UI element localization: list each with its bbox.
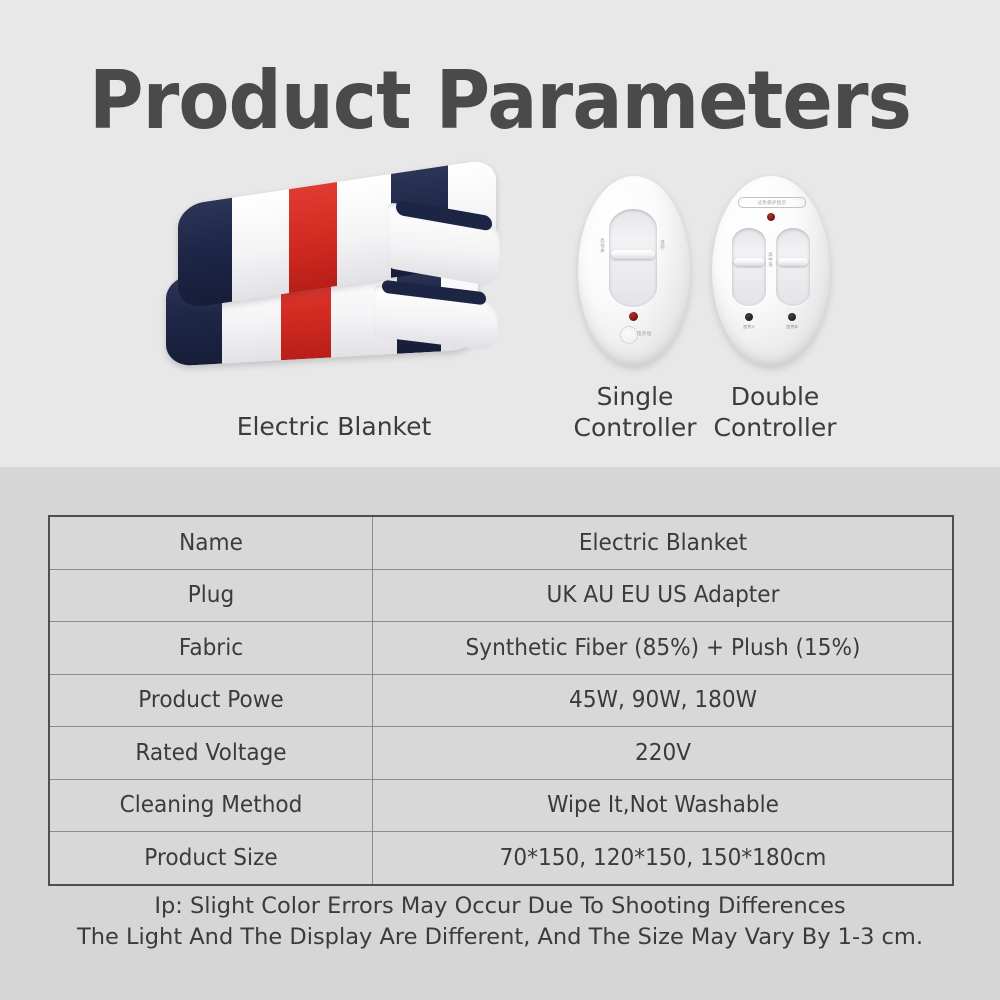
stripe-navy-left (178, 198, 232, 310)
table-row: Name Electric Blanket (49, 516, 953, 569)
blanket-stack (160, 160, 500, 395)
brand-text: 电热毯 (637, 331, 652, 337)
heat-a-label: 加热A (734, 324, 764, 329)
heat-b-led-icon (788, 313, 796, 321)
spec-label: Name (59, 516, 363, 569)
table-row: Rated Voltage 220V (49, 727, 953, 780)
overheat-led-icon (767, 213, 775, 221)
caption-electric-blanket: Electric Blanket (174, 411, 494, 442)
spec-label: Product Powe (59, 674, 363, 727)
slider-knob (611, 250, 655, 259)
stripe-red (289, 182, 337, 293)
spec-label: Cleaning Method (59, 779, 363, 832)
slider-track-b (776, 228, 810, 306)
heat-a-led-icon (745, 313, 753, 321)
caption-double-controller: Double Controller (700, 381, 850, 443)
spec-label: Rated Voltage (59, 727, 363, 780)
double-controller-image: 过热保护指示 高中低 加热A 加热B (712, 176, 830, 366)
spec-table: Name Electric Blanket Plug UK AU EU US A… (48, 515, 954, 886)
table-row: Product Powe 45W, 90W, 180W (49, 674, 953, 727)
stripe-white-left (232, 189, 289, 302)
heat-b-label: 加热B (777, 324, 807, 329)
spec-value: Electric Blanket (390, 516, 936, 569)
blanket-image (160, 160, 500, 395)
spec-value: UK AU EU US Adapter (390, 569, 936, 622)
table-row: Cleaning Method Wipe It,Not Washable (49, 779, 953, 832)
spec-table-body: Name Electric Blanket Plug UK AU EU US A… (49, 516, 953, 885)
single-right-label: 温控 (660, 240, 665, 250)
spec-label: Product Size (59, 832, 363, 885)
spec-value: 45W, 90W, 180W (390, 674, 936, 727)
spec-value: 220V (390, 727, 936, 780)
hero-section: Product Parameters (0, 0, 1000, 467)
table-row: Plug UK AU EU US Adapter (49, 569, 953, 622)
spec-value: Wipe It,Not Washable (390, 779, 936, 832)
spec-value: 70*150, 120*150, 150*180cm (390, 832, 936, 885)
single-left-label: 高低关 (600, 238, 605, 253)
spec-value: Synthetic Fiber (85%) + Plush (15%) (390, 622, 936, 675)
table-row: Product Size 70*150, 120*150, 150*180cm (49, 832, 953, 885)
caption-single-controller: Single Controller (560, 381, 710, 443)
table-row: Fabric Synthetic Fiber (85%) + Plush (15… (49, 622, 953, 675)
page-title: Product Parameters (35, 57, 965, 145)
slider-knob-a (734, 258, 764, 266)
single-controller-image: 高低关 温控 电热毯 (578, 176, 690, 366)
double-center-label: 高中低 (768, 252, 773, 267)
spec-label: Plug (59, 569, 363, 622)
footnote-disclaimer: Ip: Slight Color Errors May Occur Due To… (0, 891, 1000, 953)
spec-section: Name Electric Blanket Plug UK AU EU US A… (0, 467, 1000, 1000)
stripe-white-mid (337, 174, 391, 286)
overheat-badge: 过热保护指示 (738, 197, 806, 208)
spec-label: Fabric (59, 622, 363, 675)
power-led-icon (629, 312, 638, 321)
slider-track-a (732, 228, 766, 306)
slider-knob-b (778, 258, 808, 266)
brand-logo-icon (620, 326, 638, 344)
